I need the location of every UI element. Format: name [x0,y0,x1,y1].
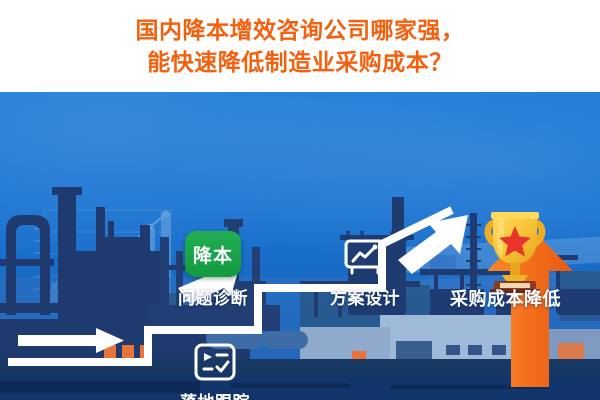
node-implementation-tracking[interactable]: 落地跟踪 [180,342,250,400]
presentation-chart-icon [343,238,387,278]
task-checklist-icon [193,342,237,382]
top-arrow-icon [398,215,468,274]
node-solution-design[interactable]: 方案设计 [330,238,400,309]
node-label-diagnose: 问题诊断 [178,284,248,309]
node-cost-reduction-result[interactable]: 采购成本降低 [450,285,561,311]
node-label-result: 采购成本降低 [450,285,561,311]
left-arrow-icon [18,328,124,353]
node-label-track: 落地跟踪 [180,388,250,400]
node-label-design: 方案设计 [330,284,400,309]
title-line-1: 国内降本增效咨询公司哪家强， [136,15,465,45]
poster-title: 国内降本增效咨询公司哪家强， 能快速降低制造业采购成本？ [0,0,600,92]
green-badge-icon: 降本 [185,231,241,277]
hero-illustration: 降本 问题诊断 方案设计 [0,92,600,400]
node-problem-diagnosis[interactable]: 降本 问题诊断 [178,231,248,309]
process-stair-path [0,92,600,400]
poster-root: 国内降本增效咨询公司哪家强， 能快速降低制造业采购成本？ [0,0,600,400]
title-line-2: 能快速降低制造业采购成本？ [147,47,453,77]
